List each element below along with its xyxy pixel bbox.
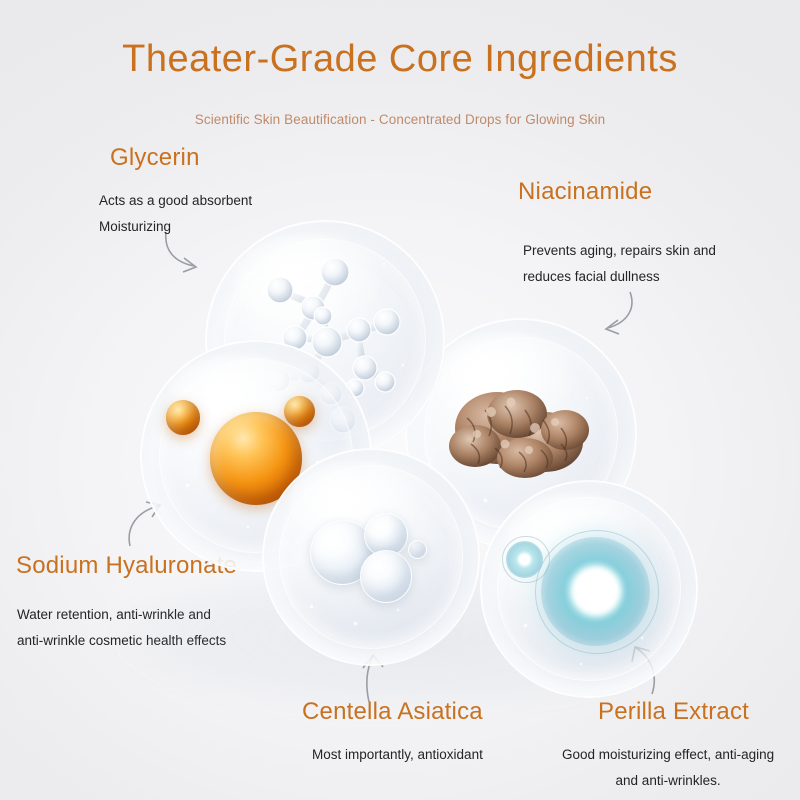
teal-glow-burst-small: [506, 541, 543, 578]
description-line: Most importantly, antioxidant: [312, 742, 483, 768]
dish-speck: [461, 374, 464, 377]
ingredient-poster: Theater-Grade Core Ingredients Scientifi…: [0, 0, 800, 800]
page-subtitle: Scientific Skin Beautification - Concent…: [0, 112, 800, 127]
clear-bubble-bottom: [360, 550, 412, 602]
ingredient-description-centella-asiatica: Most importantly, antioxidant: [312, 742, 483, 768]
ingredient-name-niacinamide: Niacinamide: [518, 178, 652, 206]
petri-dish-centella-asiatica: [262, 448, 480, 666]
dish-speck: [586, 397, 588, 399]
dish-speck: [383, 263, 385, 265]
amber-droplet-small-right: [284, 396, 315, 427]
dish-speck: [524, 624, 527, 627]
petri-dish-perilla-extract: [480, 480, 698, 698]
description-line: Prevents aging, repairs skin and: [523, 238, 716, 264]
ingredient-name-perilla-extract: Perilla Extract: [598, 698, 749, 726]
dish-speck: [332, 492, 334, 494]
dish-speck: [248, 273, 251, 276]
ingredient-description-niacinamide: Prevents aging, repairs skin and reduces…: [523, 238, 716, 291]
description-line: reduces facial dullness: [523, 264, 716, 290]
dish-speck: [402, 364, 404, 366]
description-line: Acts as a good absorbent: [99, 188, 252, 214]
dish-speck: [247, 526, 249, 528]
glow-core: [570, 566, 620, 616]
description-line: and anti-wrinkles.: [562, 768, 774, 794]
teal-glow-burst-large: [541, 537, 650, 646]
ingredient-name-glycerin: Glycerin: [110, 144, 200, 172]
dish-speck: [484, 499, 487, 502]
description-line: Good moisturizing effect, anti-aging: [562, 742, 774, 768]
ingredient-description-perilla-extract: Good moisturizing effect, anti-aging and…: [562, 742, 774, 795]
dish-speck: [310, 605, 313, 608]
amber-droplet-small-left: [166, 400, 201, 435]
page-title: Theater-Grade Core Ingredients: [0, 38, 800, 81]
